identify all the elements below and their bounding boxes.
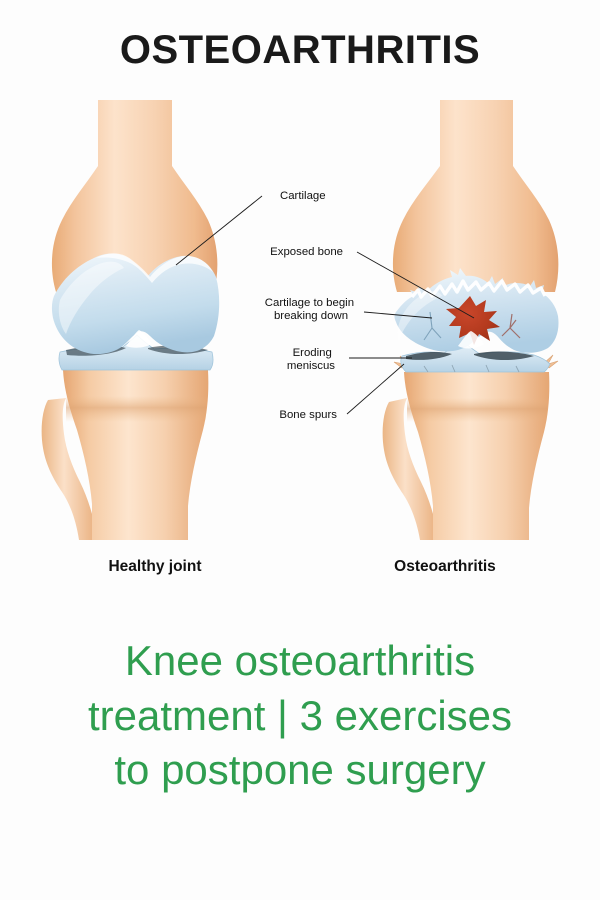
healthy-knee-diagram bbox=[42, 100, 220, 540]
label-bone-spurs: Bone spurs bbox=[279, 409, 337, 421]
infographic-page: OSTEOARTHRITIS bbox=[0, 0, 600, 900]
caption-osteoarthritis: Osteoarthritis bbox=[330, 558, 560, 576]
oa-femur bbox=[393, 100, 558, 292]
diagram-labels: Cartilage Exposed bone Cartilage to begi… bbox=[265, 190, 357, 421]
label-cartilage: Cartilage bbox=[280, 190, 326, 202]
label-cartilage-breaking: Cartilage to begin breaking down bbox=[265, 297, 357, 322]
osteoarthritis-knee-diagram bbox=[383, 100, 559, 540]
page-title: OSTEOARTHRITIS bbox=[0, 28, 600, 73]
headline-line-3: to postpone surgery bbox=[30, 743, 570, 798]
label-eroding-meniscus: Eroding meniscus bbox=[287, 347, 335, 372]
caption-healthy-joint: Healthy joint bbox=[40, 558, 270, 576]
headline-line-1: Knee osteoarthritis bbox=[30, 634, 570, 689]
anatomy-figure-area: Cartilage Exposed bone Cartilage to begi… bbox=[0, 100, 600, 550]
headline-line-2: treatment | 3 exercises bbox=[30, 689, 570, 744]
tibia-growth-band bbox=[66, 396, 206, 422]
oa-tibia-growth-band bbox=[407, 398, 547, 422]
headline: Knee osteoarthritis treatment | 3 exerci… bbox=[30, 634, 570, 798]
label-exposed-bone: Exposed bone bbox=[270, 246, 343, 258]
